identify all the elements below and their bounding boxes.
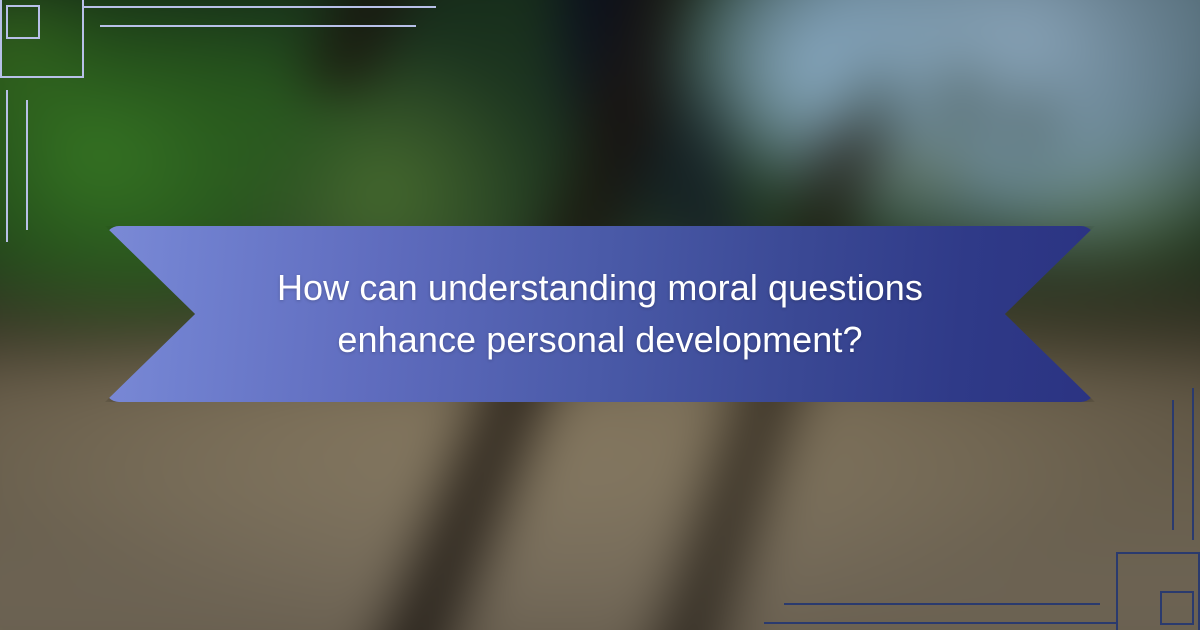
- question-line-2: enhance personal development?: [337, 317, 862, 363]
- corner-line-vertical-riser: [1116, 552, 1118, 630]
- corner-line-horizontal-outer: [1116, 552, 1200, 554]
- corner-square-icon: [1160, 591, 1194, 625]
- corner-line-horizontal-bottom: [764, 622, 1118, 624]
- corner-line-vertical-outer: [0, 0, 2, 78]
- corner-line-vertical-inner-2: [6, 90, 8, 242]
- top-left-corner-ornament: [0, 0, 180, 150]
- corner-line-horizontal-outer: [0, 76, 84, 78]
- banner-card: How can understanding moral questions en…: [0, 0, 1200, 630]
- question-ribbon: How can understanding moral questions en…: [105, 226, 1095, 402]
- corner-line-vertical-riser: [82, 0, 84, 78]
- corner-square-icon: [6, 5, 40, 39]
- question-text: How can understanding moral questions en…: [105, 226, 1095, 402]
- bottom-right-corner-ornament: [1020, 480, 1200, 630]
- question-line-1: How can understanding moral questions: [277, 265, 923, 311]
- corner-line-horizontal-top: [82, 6, 436, 8]
- corner-line-horizontal-inner: [100, 25, 416, 27]
- corner-line-horizontal-inner: [784, 603, 1100, 605]
- corner-line-vertical-inner: [1172, 400, 1174, 530]
- corner-line-vertical-inner: [26, 100, 28, 230]
- corner-line-vertical-inner-2: [1192, 388, 1194, 540]
